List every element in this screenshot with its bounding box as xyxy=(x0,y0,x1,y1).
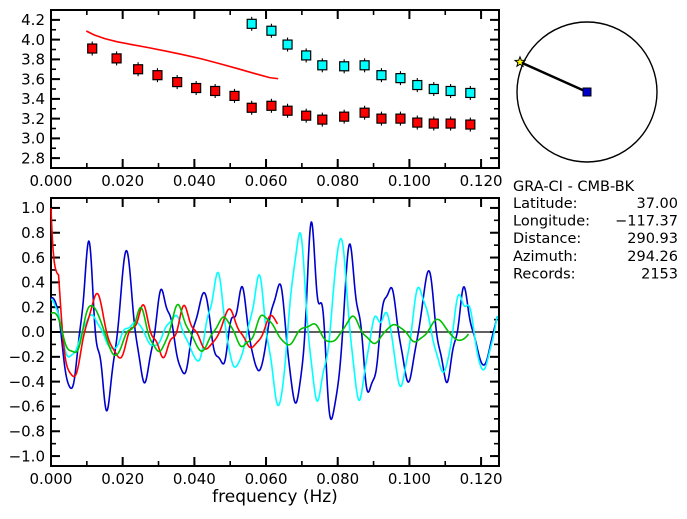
y-tick-label: 1.0 xyxy=(21,199,45,217)
data-point-marker xyxy=(396,114,405,123)
dispersion-y-tick-labels: 2.83.03.23.43.63.84.04.2 xyxy=(21,11,45,167)
x-axis-title: frequency (Hz) xyxy=(212,487,338,507)
data-point-marker xyxy=(466,88,475,97)
x-tick-label: 0.060 xyxy=(245,470,288,488)
y-tick-label: 4.2 xyxy=(21,11,45,29)
y-tick-label: 0.2 xyxy=(21,298,45,316)
x-tick-label: 0.120 xyxy=(460,470,503,488)
data-point-marker xyxy=(302,51,311,60)
dispersion-data-layer xyxy=(87,17,475,132)
data-point-marker xyxy=(413,81,422,90)
data-point-marker xyxy=(340,112,349,121)
info-row-label: Latitude: xyxy=(513,196,578,212)
data-point-marker xyxy=(88,44,97,53)
data-point-marker xyxy=(360,108,369,117)
y-tick-label: 4.0 xyxy=(21,31,45,49)
x-tick-label: 0.080 xyxy=(316,470,359,488)
figure-canvas: 2.83.03.23.43.63.84.04.2 0.0000.0200.040… xyxy=(0,0,687,519)
y-tick-label: 0.4 xyxy=(21,274,45,292)
data-point-marker xyxy=(211,86,220,95)
x-tick-label: 0.020 xyxy=(101,172,144,190)
crosscorr-x-tick-labels: 0.0000.0200.0400.0600.0800.1000.120 xyxy=(30,470,503,488)
x-tick-label: 0.000 xyxy=(30,172,73,190)
map-inset-group xyxy=(515,22,657,162)
data-point-marker xyxy=(134,65,143,74)
waveform-narrowband-green xyxy=(51,305,469,356)
y-tick-label: 3.6 xyxy=(21,70,45,88)
x-tick-label: 0.020 xyxy=(101,470,144,488)
data-point-marker xyxy=(377,71,386,80)
data-point-marker xyxy=(302,111,311,120)
x-tick-label: 0.040 xyxy=(173,172,216,190)
crosscorrelation-plot: −1.0−0.8−0.6−0.4−0.20.00.20.40.60.81.0 0… xyxy=(9,198,503,507)
info-panel: GRA-CI - CMB-BK Latitude:37.00Longitude:… xyxy=(513,179,678,282)
data-point-marker xyxy=(230,91,239,100)
data-point-marker xyxy=(396,74,405,83)
info-row-label: Distance: xyxy=(513,231,581,247)
info-row-value: 294.26 xyxy=(627,249,678,265)
info-row-label: Longitude: xyxy=(513,214,590,230)
data-point-marker xyxy=(112,54,121,63)
y-tick-label: 0.8 xyxy=(21,224,45,242)
y-tick-label: −0.2 xyxy=(9,348,45,366)
x-tick-label: 0.100 xyxy=(388,172,431,190)
data-point-marker xyxy=(173,78,182,87)
y-tick-label: 3.2 xyxy=(21,110,45,128)
info-row-value: 290.93 xyxy=(627,231,678,247)
crosscorr-data-layer xyxy=(51,208,497,419)
info-row-value: 2153 xyxy=(641,266,678,282)
data-point-marker xyxy=(429,119,438,128)
data-point-marker xyxy=(267,101,276,110)
plot-svg-root: 2.83.03.23.43.63.84.04.2 0.0000.0200.040… xyxy=(0,0,687,519)
data-point-marker xyxy=(429,85,438,94)
crosscorr-y-tick-labels: −1.0−0.8−0.6−0.4−0.20.00.20.40.60.81.0 xyxy=(9,199,45,465)
x-tick-label: 0.040 xyxy=(173,470,216,488)
y-tick-label: 3.8 xyxy=(21,51,45,69)
x-tick-label: 0.120 xyxy=(460,172,503,190)
y-tick-label: 3.4 xyxy=(21,90,45,108)
data-point-marker xyxy=(360,61,369,70)
y-tick-label: −0.4 xyxy=(9,373,45,391)
info-row-value: 37.00 xyxy=(636,196,678,212)
x-tick-label: 0.100 xyxy=(388,470,431,488)
x-tick-label: 0.060 xyxy=(245,172,288,190)
data-point-marker xyxy=(466,120,475,129)
data-point-marker xyxy=(413,118,422,127)
data-point-marker xyxy=(340,62,349,71)
event-marker-icon xyxy=(583,88,591,96)
info-row-value: −117.37 xyxy=(615,214,678,230)
y-tick-label: −0.8 xyxy=(9,422,45,440)
y-tick-label: −1.0 xyxy=(9,447,45,465)
data-point-marker xyxy=(153,71,162,80)
y-tick-label: −0.6 xyxy=(9,398,45,416)
dispersion-plot: 2.83.03.23.43.63.84.04.2 0.0000.0200.040… xyxy=(21,10,502,190)
info-row-label: Azimuth: xyxy=(513,249,578,265)
station-pair-label: GRA-CI - CMB-BK xyxy=(513,179,635,195)
data-point-marker xyxy=(318,61,327,70)
info-panel-rows: Latitude:37.00Longitude:−117.37Distance:… xyxy=(513,196,678,282)
data-point-marker xyxy=(247,103,256,112)
data-point-marker xyxy=(192,84,201,93)
ray-path-line xyxy=(520,62,587,92)
data-point-marker xyxy=(446,86,455,95)
y-tick-label: 0.6 xyxy=(21,249,45,267)
x-tick-label: 0.000 xyxy=(30,470,73,488)
info-row-label: Records: xyxy=(513,266,576,282)
data-point-marker xyxy=(283,40,292,49)
x-tick-label: 0.080 xyxy=(316,172,359,190)
data-point-marker xyxy=(318,115,327,124)
y-tick-label: 0.0 xyxy=(21,323,45,341)
y-tick-label: 3.0 xyxy=(21,130,45,148)
dispersion-x-tick-labels: 0.0000.0200.0400.0600.0800.1000.120 xyxy=(30,172,503,190)
data-point-marker xyxy=(377,114,386,123)
data-point-marker xyxy=(247,19,256,28)
data-point-marker xyxy=(446,119,455,128)
y-tick-label: 2.8 xyxy=(21,149,45,167)
data-point-marker xyxy=(267,26,276,35)
data-point-marker xyxy=(283,106,292,115)
